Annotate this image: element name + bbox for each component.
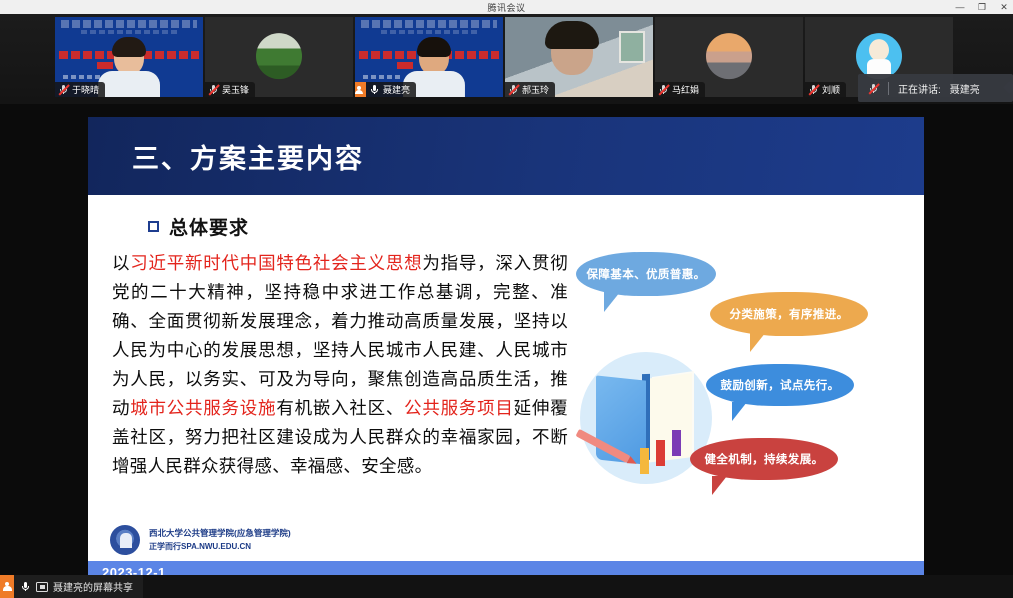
slide-figure-column: 保障基本、优质普惠。 分类施策，有序推进。 鼓励创新，试点先行。 健全机制，持续…	[568, 246, 898, 546]
tooltip-divider	[888, 82, 889, 95]
mic-muted-icon	[808, 84, 819, 95]
slide-title: 三、方案主要内容	[132, 137, 364, 176]
participant-tile[interactable]: 马红娟	[655, 17, 803, 97]
slide-header: 三、方案主要内容	[88, 117, 924, 195]
screen-share-icon[interactable]	[36, 582, 48, 592]
avatar	[706, 33, 752, 79]
speech-bubble: 健全机制，持续发展。	[690, 438, 838, 480]
participant-name: 马红娟	[672, 83, 699, 96]
host-icon	[355, 82, 366, 97]
presentation-slide: 三、方案主要内容 总体要求 以习近平新时代中国特色社会主义思想为指导，深入贯彻党…	[88, 117, 924, 583]
meeting-app-icon[interactable]	[0, 575, 14, 598]
body-text: 为指导，深入贯彻党的二十大精神，坚持稳中求进工作总基调，完整、准确、全面贯彻新发…	[112, 254, 568, 419]
participant-namebar: 郝玉玲	[505, 82, 555, 97]
participant-tile-active-speaker[interactable]: 聂建亮	[355, 17, 503, 97]
body-text: 有机嵌入社区、	[276, 399, 404, 419]
participant-namebar: 聂建亮	[355, 82, 416, 97]
avatar	[856, 33, 902, 79]
slide-text-column: 以习近平新时代中国特色社会主义思想为指导，深入贯彻党的二十大精神，坚持稳中求进工…	[88, 246, 568, 546]
window-title: 腾讯会议	[487, 1, 525, 14]
square-bullet-icon	[148, 221, 159, 232]
body-text: 以	[112, 254, 130, 274]
participant-namebar: 于晓晴	[55, 82, 105, 97]
participant-tile[interactable]: 吴玉锋	[205, 17, 353, 97]
window-controls: — ❐ ✕	[955, 0, 1009, 14]
speech-bubble: 鼓励创新，试点先行。	[706, 364, 854, 406]
speech-bubble-text: 健全机制，持续发展。	[705, 451, 824, 467]
speech-bubble-text: 鼓励创新，试点先行。	[721, 377, 840, 393]
highlighted-text: 公共服务项目	[404, 399, 514, 419]
webcam-person	[98, 39, 160, 97]
highlighted-text: 习近平新时代中国特色社会主义思想	[130, 254, 422, 274]
participant-namebar: 吴玉锋	[205, 82, 255, 97]
participant-name: 吴玉锋	[222, 83, 249, 96]
university-logo-icon	[110, 525, 140, 555]
minimize-icon[interactable]: —	[955, 3, 965, 12]
participant-tile[interactable]: 郝玉玲	[505, 17, 653, 97]
screen-share-label: 聂建亮的屏幕共享	[53, 579, 133, 594]
bullet-heading: 总体要求	[88, 213, 924, 240]
close-icon[interactable]: ✕	[999, 3, 1009, 12]
active-speaker-tooltip: 正在讲话: 聂建亮	[858, 74, 1013, 102]
participant-name: 于晓晴	[72, 83, 99, 96]
avatar	[256, 33, 302, 79]
mic-muted-icon	[208, 84, 219, 95]
participant-filmstrip: 于晓晴 吴玉锋 聂建亮	[0, 14, 1013, 104]
participant-name: 郝玉玲	[522, 83, 549, 96]
tooltip-tail	[1003, 81, 1013, 94]
window-titlebar: 腾讯会议 — ❐ ✕	[0, 0, 1013, 14]
shared-screen-stage: 三、方案主要内容 总体要求 以习近平新时代中国特色社会主义思想为指导，深入贯彻党…	[0, 104, 1013, 575]
org-line-1: 西北大学公共管理学院(应急管理学院)	[149, 527, 291, 540]
screen-share-indicator[interactable]: 聂建亮的屏幕共享	[14, 575, 143, 598]
mic-muted-icon	[868, 83, 879, 94]
mic-active-icon[interactable]	[20, 581, 31, 592]
mic-muted-icon	[658, 84, 669, 95]
highlighted-text: 城市公共服务设施	[130, 399, 276, 419]
maximize-icon[interactable]: ❐	[977, 3, 987, 12]
speech-bubble: 保障基本、优质普惠。	[576, 252, 716, 296]
speaking-label: 正在讲话:	[898, 81, 941, 96]
bullet-label: 总体要求	[169, 213, 249, 240]
org-line-2: 正学而行SPA.NWU.EDU.CN	[149, 540, 291, 553]
tencent-meeting-window: 腾讯会议 — ❐ ✕ 于晓晴	[0, 0, 1013, 598]
slide-paragraph: 以习近平新时代中国特色社会主义思想为指导，深入贯彻党的二十大精神，坚持稳中求进工…	[112, 250, 568, 482]
mic-active-icon	[369, 84, 380, 95]
participant-tile[interactable]: 于晓晴	[55, 17, 203, 97]
slide-footer: 西北大学公共管理学院(应急管理学院) 正学而行SPA.NWU.EDU.CN	[88, 519, 924, 561]
participant-name: 刘顺	[822, 83, 840, 96]
speaking-name: 聂建亮	[950, 81, 980, 96]
university-name-block: 西北大学公共管理学院(应急管理学院) 正学而行SPA.NWU.EDU.CN	[149, 527, 291, 553]
speech-bubble-text: 保障基本、优质普惠。	[587, 266, 706, 282]
mic-muted-icon	[58, 84, 69, 95]
participant-namebar: 马红娟	[655, 82, 705, 97]
speech-bubble: 分类施策，有序推进。	[710, 292, 868, 336]
speech-bubble-text: 分类施策，有序推进。	[730, 306, 849, 322]
participant-namebar: 刘顺	[805, 82, 846, 97]
taskbar: 聂建亮的屏幕共享	[0, 575, 1013, 598]
mic-muted-icon	[508, 84, 519, 95]
participant-name: 聂建亮	[383, 83, 410, 96]
